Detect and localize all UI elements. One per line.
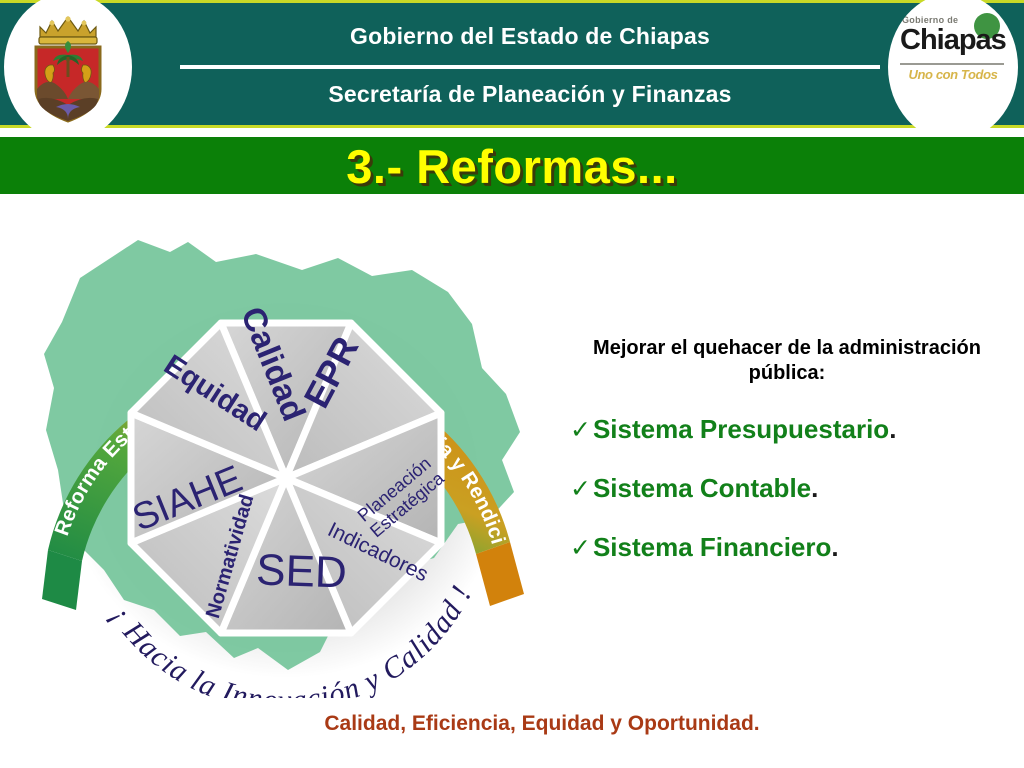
bullet-punctuation: . xyxy=(811,473,818,504)
crest-oval-backdrop xyxy=(4,0,132,141)
list-item: ✓ Sistema Financiero . xyxy=(556,532,1018,563)
bullet-punctuation: . xyxy=(831,532,838,563)
chiapas-coat-of-arms-icon xyxy=(26,11,110,123)
reform-wheel-diagram: Reforma Estructural en Política Presupue… xyxy=(20,218,540,698)
list-item: ✓ Sistema Contable . xyxy=(556,473,1018,504)
header-title-secretariat: Secretaría de Planeación y Finanzas xyxy=(190,81,870,108)
bullet-punctuation: . xyxy=(889,414,896,445)
chiapas-logo-backdrop: Gobierno de Chiapas Uno con Todos xyxy=(888,0,1018,141)
header-divider xyxy=(180,65,880,69)
list-item: ✓ Sistema Presupuestario . xyxy=(556,414,1018,445)
section-title-banner: 3.- Reformas... xyxy=(0,137,1024,194)
logo-wordmark: Chiapas xyxy=(900,26,1006,55)
header-band: Gobierno del Estado de Chiapas Secretarí… xyxy=(0,0,1024,128)
bullet-label-presupuestario: Sistema Presupuestario xyxy=(593,414,889,445)
check-icon: ✓ xyxy=(570,418,591,443)
bullet-label-financiero: Sistema Financiero xyxy=(593,532,831,563)
footer-slogan: Calidad, Eficiencia, Equidad y Oportunid… xyxy=(0,712,1024,736)
chiapas-logo: Gobierno de Chiapas Uno con Todos xyxy=(898,15,1008,109)
logo-tagline: Uno con Todos xyxy=(900,67,1006,82)
panel-heading: Mejorar el quehacer de la administración… xyxy=(556,336,1018,386)
check-icon: ✓ xyxy=(570,477,591,502)
page-title: 3.- Reformas... xyxy=(0,139,1024,194)
reform-arc-ring-tail-right xyxy=(476,542,524,606)
wheel-label-sed: SED xyxy=(255,545,347,597)
content-panel: Mejorar el quehacer de la administración… xyxy=(556,336,1018,563)
logo-rule xyxy=(900,63,1004,65)
bullet-label-contable: Sistema Contable xyxy=(593,473,811,504)
header-title-government: Gobierno del Estado de Chiapas xyxy=(190,23,870,50)
check-icon: ✓ xyxy=(570,536,591,561)
